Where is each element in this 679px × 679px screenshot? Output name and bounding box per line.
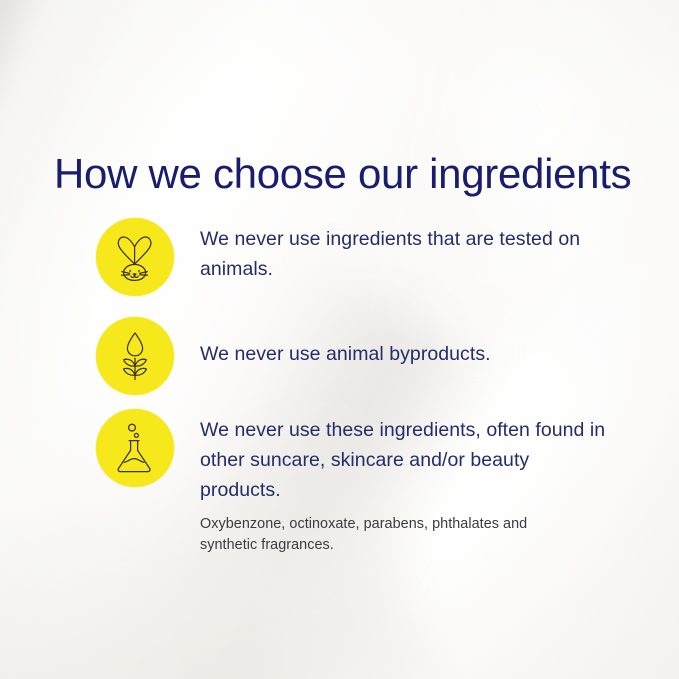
content-layer: How we choose our ingredients: [0, 0, 679, 679]
list-item-lead-text: We never use ingredients that are tested…: [200, 224, 600, 284]
icon-badge: [96, 317, 174, 395]
values-list: We never use ingredients that are tested…: [96, 218, 636, 556]
list-item: We never use these ingredients, often fo…: [96, 409, 636, 556]
icon-badge: [96, 409, 174, 487]
list-item-lead-text: We never use these ingredients, often fo…: [200, 415, 610, 505]
list-item-text: We never use ingredients that are tested…: [174, 218, 600, 284]
flask-beaker-icon: [111, 422, 159, 474]
ingredients-values-panel: How we choose our ingredients: [0, 0, 679, 679]
page-title: How we choose our ingredients: [54, 150, 631, 198]
icon-badge: [96, 218, 174, 296]
bunny-cruelty-free-icon: [110, 231, 160, 283]
list-item-sub-text: Oxybenzone, octinoxate, parabens, phthal…: [200, 514, 570, 556]
list-item-text: We never use these ingredients, often fo…: [174, 409, 610, 556]
list-item-lead-text: We never use animal byproducts.: [200, 323, 491, 369]
list-item: We never use ingredients that are tested…: [96, 218, 636, 296]
list-item: We never use animal byproducts.: [96, 317, 636, 395]
plant-leaf-droplet-icon: [112, 330, 158, 382]
list-item-text: We never use animal byproducts.: [174, 317, 491, 369]
